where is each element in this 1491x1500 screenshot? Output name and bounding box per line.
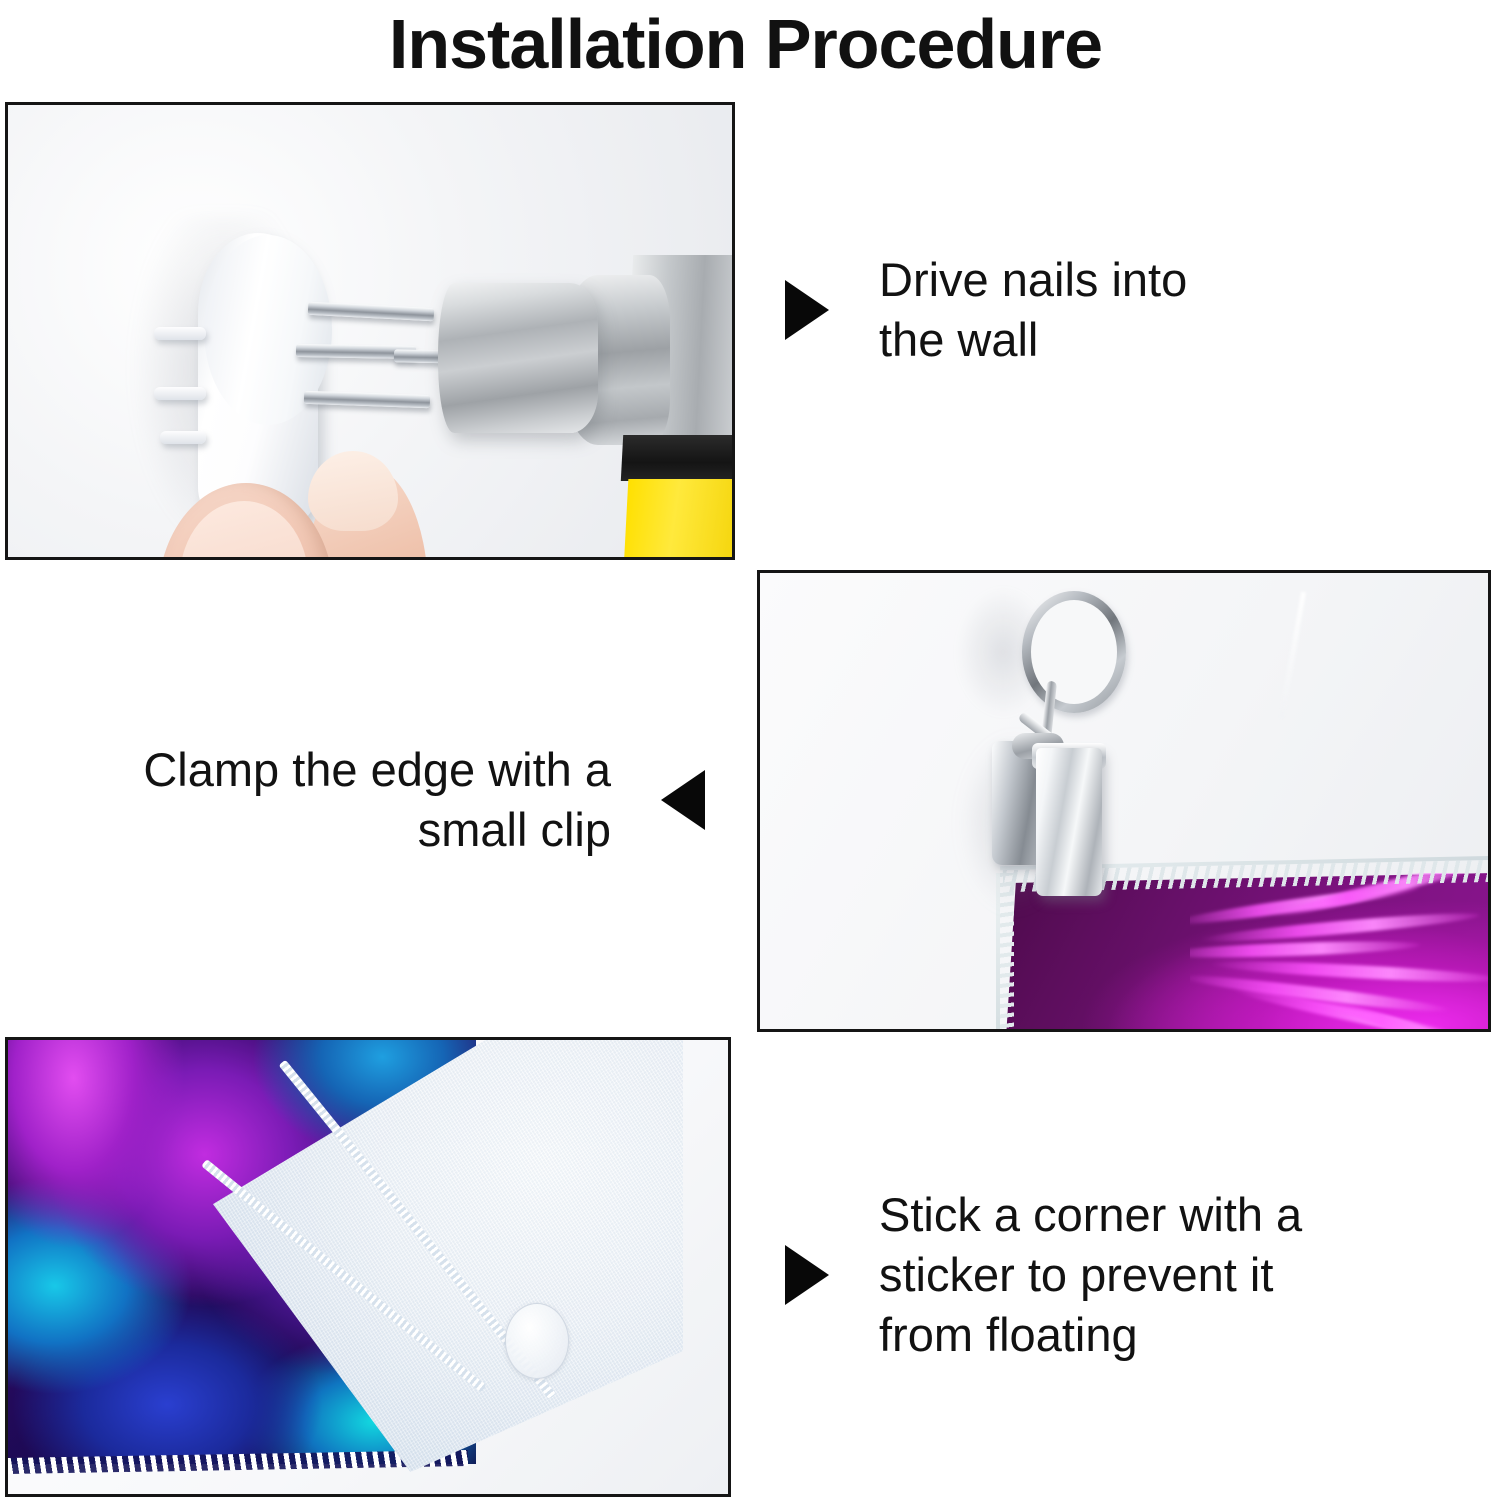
hammer-grip-handle <box>624 479 735 560</box>
photo-panel-clamp-edge <box>757 570 1491 1032</box>
triangle-left-icon <box>661 770 705 830</box>
hook-fin <box>154 387 206 400</box>
caption-step-1: Drive nails into the wall <box>785 250 1415 370</box>
caption-step-2: Clamp the edge with a small clip <box>65 740 705 860</box>
photo-panel-drive-nails <box>5 102 735 560</box>
adhesive-sticker-dot <box>505 1303 569 1379</box>
caption-step-2-text: Clamp the edge with a small clip <box>143 740 611 860</box>
clip-ring <box>1022 591 1126 713</box>
hook-fin <box>154 327 206 340</box>
caption-step-3-text: Stick a corner with a sticker to prevent… <box>879 1185 1302 1365</box>
clip-jaw <box>1036 748 1102 896</box>
hook-fin <box>160 431 206 444</box>
triangle-right-icon <box>785 1245 829 1305</box>
caption-step-3: Stick a corner with a sticker to prevent… <box>785 1185 1425 1365</box>
flag-feather-pattern <box>1190 873 1491 1032</box>
caption-step-1-text: Drive nails into the wall <box>879 250 1187 370</box>
triangle-right-icon <box>785 280 829 340</box>
hammer-head <box>438 283 598 433</box>
photo-panel-stick-corner <box>5 1037 731 1497</box>
hammer-collar-band <box>621 435 735 481</box>
page-title: Installation Procedure <box>0 2 1491 86</box>
